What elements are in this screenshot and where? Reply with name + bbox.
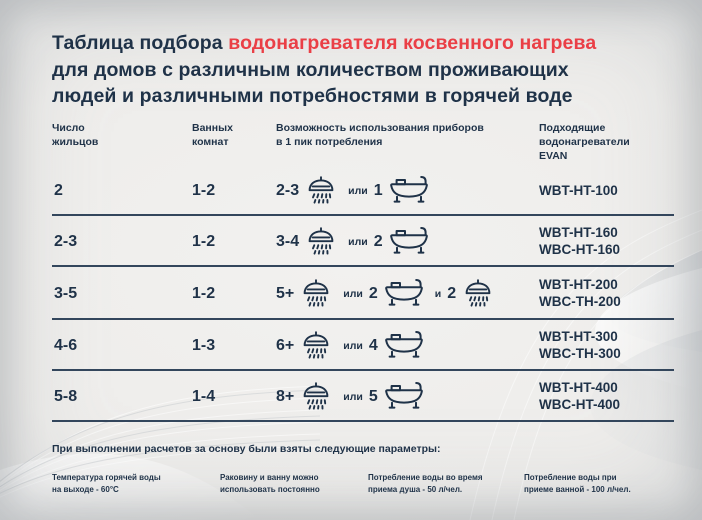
cell-bathrooms: 1-4	[192, 388, 215, 406]
column-header-models: Подходящие водонагреватели EVAN	[539, 122, 679, 164]
usage-quantity: 3-4	[276, 233, 299, 251]
shower-icon	[304, 174, 338, 208]
row-separator	[52, 420, 674, 422]
shower-icon	[299, 277, 333, 311]
model-name: WBT-HT-200	[539, 276, 621, 294]
table-row: 5-81-48+или5WBT-HT-400WBC-HT-400	[52, 371, 674, 422]
model-name: WBC-TH-200	[539, 294, 621, 312]
cell-residents: 2-3	[54, 233, 77, 251]
shower-icon	[299, 380, 333, 414]
footer-note-line: использовать постоянно	[220, 484, 370, 496]
model-name: WBT-HT-100	[539, 182, 618, 200]
footer-note-line: Раковину и ванну можно	[220, 472, 370, 484]
bathtub-icon	[383, 380, 425, 414]
cell-residents: 4-6	[54, 337, 77, 355]
usage-quantity: 2	[374, 233, 383, 251]
cell-models: WBT-HT-400WBC-HT-400	[539, 379, 620, 415]
footer-heading: При выполнении расчетов за основу были в…	[52, 443, 440, 455]
table-row: 21-22-3или1WBT-HT-100	[52, 165, 674, 216]
shower-icon	[299, 329, 333, 363]
model-name: WBT-HT-300	[539, 328, 621, 346]
cell-models: WBT-HT-200WBC-TH-200	[539, 276, 621, 312]
usage-conjunction: или	[343, 340, 363, 352]
footer-note-line: Потребление воды во время	[368, 472, 533, 484]
cell-usage: 2-3или1	[276, 165, 432, 216]
footer-note: Раковину и ванну можноиспользовать посто…	[220, 472, 370, 495]
usage-conjunction: или	[343, 391, 363, 403]
table-header-row: Число жильцов Ванных комнат Возможность …	[52, 122, 674, 168]
cell-usage: 3-4или2	[276, 216, 432, 267]
bathtub-icon	[388, 225, 430, 259]
model-name: WBT-HT-160	[539, 224, 620, 242]
column-header-residents: Число жильцов	[52, 122, 132, 150]
usage-conjunction: и	[435, 288, 441, 300]
footer-note-line: Потребление воды при	[524, 472, 694, 484]
cell-usage: 5+или2и2	[276, 267, 497, 320]
footer-note-line: приема душа - 50 л/чел.	[368, 484, 533, 496]
cell-residents: 2	[54, 182, 63, 200]
cell-residents: 5-8	[54, 388, 77, 406]
bathtub-icon	[383, 329, 425, 363]
cell-bathrooms: 1-2	[192, 233, 215, 251]
cell-models: WBT-HT-160WBC-HT-160	[539, 224, 620, 260]
cell-bathrooms: 1-2	[192, 285, 215, 303]
column-header-bathrooms: Ванных комнат	[192, 122, 272, 150]
table-row: 2-31-23-4или2WBT-HT-160WBC-HT-160	[52, 216, 674, 267]
infographic-poster: Таблица подбора водонагревателя косвенно…	[0, 0, 702, 520]
model-name: WBC-TH-300	[539, 346, 621, 364]
usage-conjunction: или	[348, 236, 368, 248]
usage-quantity: 5	[369, 388, 378, 406]
footer-note-line: приеме ванной - 100 л/чел.	[524, 484, 694, 496]
usage-quantity: 2	[369, 285, 378, 303]
shower-icon	[304, 225, 338, 259]
title-line2: для домов с различным количеством прожив…	[52, 59, 569, 81]
footer-note: Потребление воды приприеме ванной - 100 …	[524, 472, 694, 495]
model-name: WBT-HT-400	[539, 379, 620, 397]
cell-residents: 3-5	[54, 285, 77, 303]
column-header-usage: Возможность использования приборов в 1 п…	[276, 122, 576, 150]
model-name: WBC-HT-400	[539, 397, 620, 415]
cell-bathrooms: 1-2	[192, 182, 215, 200]
footer-note-line: Температура горячей воды	[52, 472, 212, 484]
usage-quantity: 1	[374, 182, 383, 200]
cell-usage: 6+или4	[276, 320, 427, 371]
page-title: Таблица подбора водонагревателя косвенно…	[52, 30, 672, 110]
footer-note: Температура горячей водына выходе - 60°C	[52, 472, 212, 495]
shower-icon	[461, 277, 495, 311]
bathtub-icon	[388, 174, 430, 208]
title-line3: людей и различными потребностями в горяч…	[52, 85, 573, 107]
usage-quantity: 4	[369, 337, 378, 355]
title-line1-plain: Таблица подбора	[52, 32, 228, 54]
table-row: 4-61-36+или4WBT-HT-300WBC-TH-300	[52, 320, 674, 371]
usage-conjunction: или	[348, 185, 368, 197]
cell-models: WBT-HT-100	[539, 182, 618, 200]
table-row: 3-51-25+или2и2WBT-HT-200WBC-TH-200	[52, 267, 674, 320]
usage-quantity: 6+	[276, 337, 294, 355]
footer-note: Потребление воды во времяприема душа - 5…	[368, 472, 533, 495]
usage-quantity: 5+	[276, 285, 294, 303]
selection-table: 21-22-3или1WBT-HT-1002-31-23-4или2WBT-HT…	[52, 165, 674, 422]
usage-quantity: 2	[447, 285, 456, 303]
title-line1-accent: водонагревателя косвенного нагрева	[228, 32, 596, 54]
cell-models: WBT-HT-300WBC-TH-300	[539, 328, 621, 364]
cell-usage: 8+или5	[276, 371, 427, 422]
usage-quantity: 8+	[276, 388, 294, 406]
usage-quantity: 2-3	[276, 182, 299, 200]
footer-note-line: на выходе - 60°C	[52, 484, 212, 496]
usage-conjunction: или	[343, 288, 363, 300]
cell-bathrooms: 1-3	[192, 337, 215, 355]
bathtub-icon	[383, 277, 425, 311]
model-name: WBC-HT-160	[539, 242, 620, 260]
